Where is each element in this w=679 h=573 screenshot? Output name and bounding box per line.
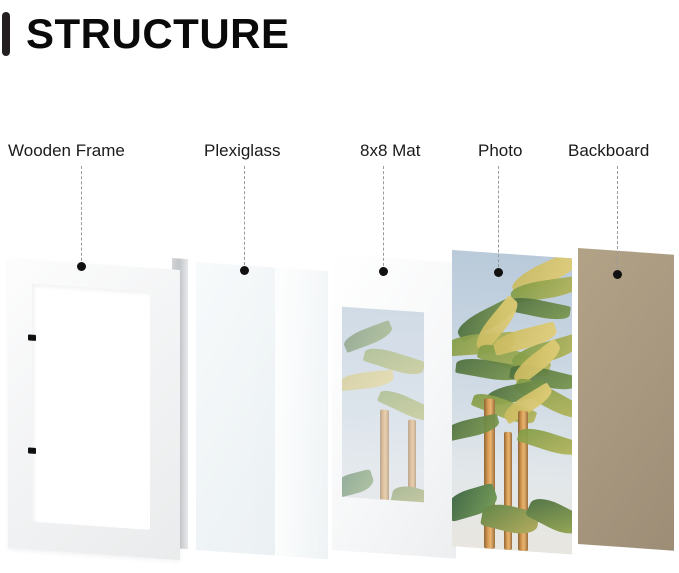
exploded-frame-diagram bbox=[0, 0, 679, 573]
layer-photo bbox=[452, 250, 572, 554]
leader-dot-backboard bbox=[613, 270, 622, 279]
leader-dot-mat bbox=[379, 267, 388, 276]
layer-backboard bbox=[578, 248, 674, 551]
plexiglass-sheen bbox=[275, 268, 328, 560]
leader-dot-plexiglass bbox=[240, 266, 249, 275]
mat-window-photo-preview bbox=[342, 307, 424, 503]
label-backboard: Backboard bbox=[568, 142, 649, 159]
frame-clip-upper bbox=[28, 334, 36, 341]
frame-inner-opening bbox=[32, 284, 150, 530]
leader-line-photo bbox=[498, 166, 499, 272]
leader-dot-photo bbox=[494, 268, 503, 277]
leader-line-plexiglass bbox=[244, 166, 245, 270]
leader-dot-wooden-frame bbox=[77, 262, 86, 271]
label-mat: 8x8 Mat bbox=[360, 142, 420, 159]
label-photo: Photo bbox=[478, 142, 522, 159]
layer-plexiglass bbox=[196, 262, 328, 559]
layer-wooden-frame bbox=[8, 258, 180, 560]
frame-clip-lower bbox=[28, 447, 36, 454]
mat-window-opening bbox=[342, 307, 424, 503]
label-plexiglass: Plexiglass bbox=[204, 142, 281, 159]
leader-line-wooden-frame bbox=[81, 166, 82, 266]
leader-line-backboard bbox=[617, 166, 618, 274]
layer-mat bbox=[332, 254, 456, 559]
leader-line-mat bbox=[383, 166, 384, 271]
label-wooden-frame: Wooden Frame bbox=[8, 142, 125, 159]
